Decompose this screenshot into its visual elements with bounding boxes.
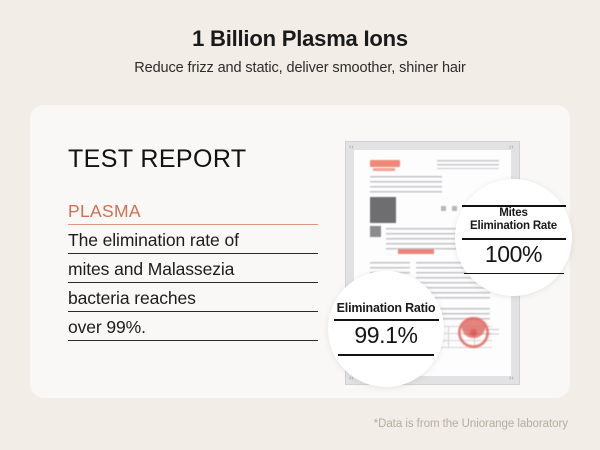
corner-mark-bottom-right: ›› <box>509 375 516 382</box>
certificate-text-block-a <box>370 176 442 193</box>
certificate-highlight-bar <box>398 249 434 254</box>
copy-line-1: The elimination rate of <box>68 230 318 254</box>
footer-note: *Data is from the Uniorange laboratory <box>374 418 568 430</box>
certificate-logo <box>370 160 400 167</box>
badge-mites-elimination-rate: Mites Elimination Rate 100% <box>455 179 572 296</box>
report-heading: TEST REPORT <box>68 145 247 174</box>
certificate-photo-block-small <box>370 226 381 237</box>
page-title: 1 Billion Plasma Ions <box>0 0 600 51</box>
page-header: 1 Billion Plasma Ions Reduce frizz and s… <box>0 0 600 78</box>
page-subtitle: Reduce frizz and static, deliver smoothe… <box>0 51 600 77</box>
badge-ratio-value: 99.1% <box>328 321 444 349</box>
copy-line-3: bacteria reaches <box>68 288 318 312</box>
copy-line-plasma: PLASMA <box>68 201 318 225</box>
badge-mites-value: 100% <box>455 240 572 268</box>
badge-mites-rule-bottom <box>464 273 564 275</box>
badge-ratio-rule-bottom <box>338 354 434 356</box>
certificate-logo-subtitle <box>373 168 395 171</box>
certificate-header-text <box>437 160 499 169</box>
certificate-red-stamp <box>458 317 489 348</box>
test-report-card: TEST REPORT PLASMA The elimination rate … <box>30 105 570 398</box>
report-copy-block: PLASMA The elimination rate of mites and… <box>68 201 318 346</box>
badge-ratio-content: Elimination Ratio 99.1% <box>328 302 444 356</box>
copy-line-4: over 99%. <box>68 317 318 341</box>
certificate-photo-block <box>370 197 396 223</box>
copy-line-2: mites and Malassezia <box>68 259 318 283</box>
badge-mites-label: Mites Elimination Rate <box>455 207 572 234</box>
badge-ratio-label: Elimination Ratio <box>328 302 444 316</box>
badge-mites-content: Mites Elimination Rate 100% <box>455 201 572 275</box>
badge-elimination-ratio: Elimination Ratio 99.1% <box>328 271 444 387</box>
